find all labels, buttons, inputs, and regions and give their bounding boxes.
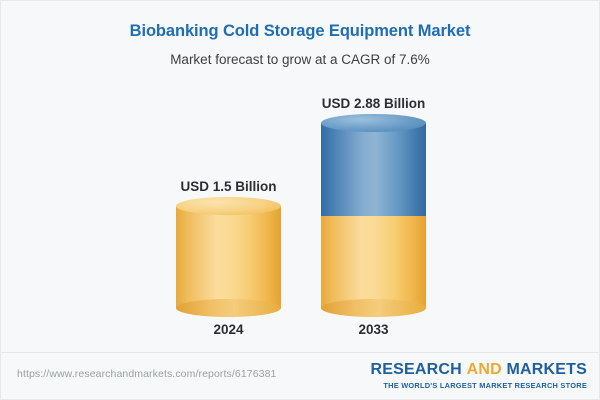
segment-body (176, 206, 281, 308)
bar-cylinder-2024[interactable] (176, 206, 281, 308)
logo-tagline: THE WORLD'S LARGEST MARKET RESEARCH STOR… (371, 381, 587, 390)
segment-body (321, 216, 426, 308)
brand-logo[interactable]: RESEARCH AND MARKETS THE WORLD'S LARGEST… (371, 361, 587, 390)
logo-word-research: RESEARCH (371, 361, 462, 378)
chart-plot-area: USD 1.5 Billion 2024 USD 2.88 Billion (1, 1, 600, 353)
bar-value-label-2033: USD 2.88 Billion (322, 96, 426, 112)
segment-body (321, 123, 426, 216)
segment-cap (321, 114, 426, 132)
logo-word-and: AND (467, 361, 502, 378)
segment-foot (176, 299, 281, 317)
bar-segment-2033-growth (321, 123, 426, 216)
bar-group-2024: USD 1.5 Billion 2024 (176, 206, 281, 308)
segment-foot (321, 299, 426, 317)
category-label-2024: 2024 (213, 322, 243, 338)
bar-segment-2024-base (176, 206, 281, 308)
bar-cylinder-2033[interactable] (321, 123, 426, 308)
logo-wordmark: RESEARCH AND MARKETS (371, 361, 587, 379)
bar-segment-2033-base (321, 216, 426, 308)
category-label-2033: 2033 (358, 322, 388, 338)
bar-value-label-2024: USD 1.5 Billion (180, 179, 276, 195)
bar-group-2033: USD 2.88 Billion 2033 (321, 123, 426, 308)
source-url[interactable]: https://www.researchandmarkets.com/repor… (17, 368, 276, 380)
segment-cap (176, 197, 281, 215)
chart-card: Biobanking Cold Storage Equipment Market… (0, 0, 600, 400)
logo-word-markets: MARKETS (506, 361, 587, 378)
chart-footer: https://www.researchandmarkets.com/repor… (1, 352, 600, 399)
